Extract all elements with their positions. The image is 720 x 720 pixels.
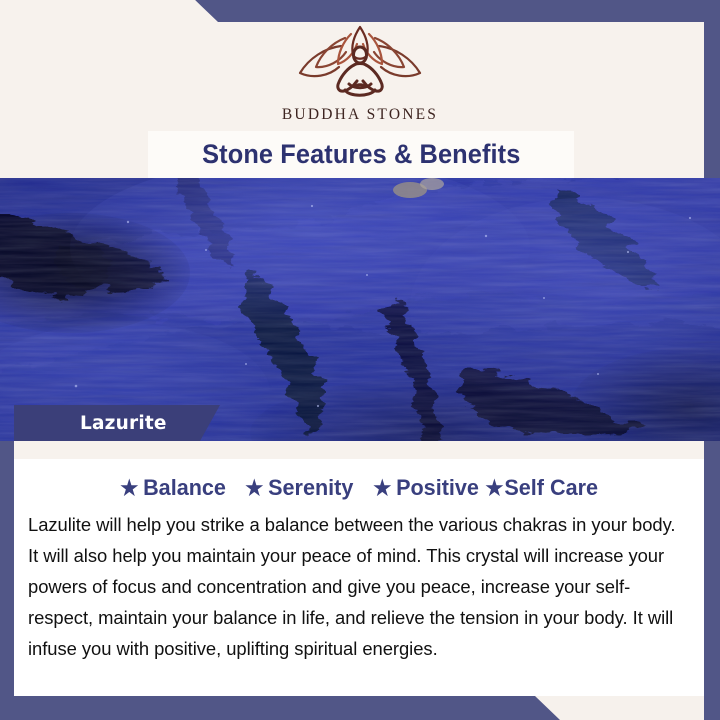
- benefit-item-serenity: ★ Serenity: [245, 475, 353, 501]
- top-accent-band-upper: [195, 0, 720, 24]
- stone-name: Lazurite: [14, 413, 167, 434]
- content-top-accent: [14, 441, 704, 459]
- star-icon: ★: [120, 478, 138, 499]
- star-icon: ★: [373, 478, 391, 499]
- stone-photo-texture: [0, 178, 720, 441]
- page-title-plaque: Stone Features & Benefits: [148, 131, 574, 178]
- benefits-list: ★ Balance ★ Serenity ★ Positive ★ Self C…: [14, 475, 704, 501]
- benefit-label: Serenity: [268, 475, 353, 501]
- stone-name-tag: Lazurite: [14, 405, 220, 441]
- benefit-item-positive: ★ Positive: [373, 475, 479, 501]
- benefit-item-self-care: ★ Self Care: [485, 475, 598, 501]
- benefit-label: Self Care: [504, 475, 598, 501]
- benefit-label: Balance: [143, 475, 226, 501]
- lotus-meditation-icon: [285, 24, 435, 102]
- brand-wordmark: BUDDHA STONES: [282, 106, 438, 124]
- star-icon: ★: [245, 478, 263, 499]
- star-icon: ★: [485, 478, 503, 499]
- benefit-item-balance: ★ Balance: [120, 475, 226, 501]
- bottom-accent-band: [0, 696, 560, 720]
- benefit-label: Positive: [396, 475, 479, 501]
- stone-features-poster: BUDDHA STONES Stone Features & Benefits: [0, 0, 720, 720]
- brand-logo: BUDDHA STONES: [0, 24, 720, 124]
- content-panel: ★ Balance ★ Serenity ★ Positive ★ Self C…: [14, 441, 704, 696]
- page-title: Stone Features & Benefits: [202, 139, 520, 170]
- stone-photo: [0, 178, 720, 441]
- stone-description: Lazulite will help you strike a balance …: [28, 509, 682, 664]
